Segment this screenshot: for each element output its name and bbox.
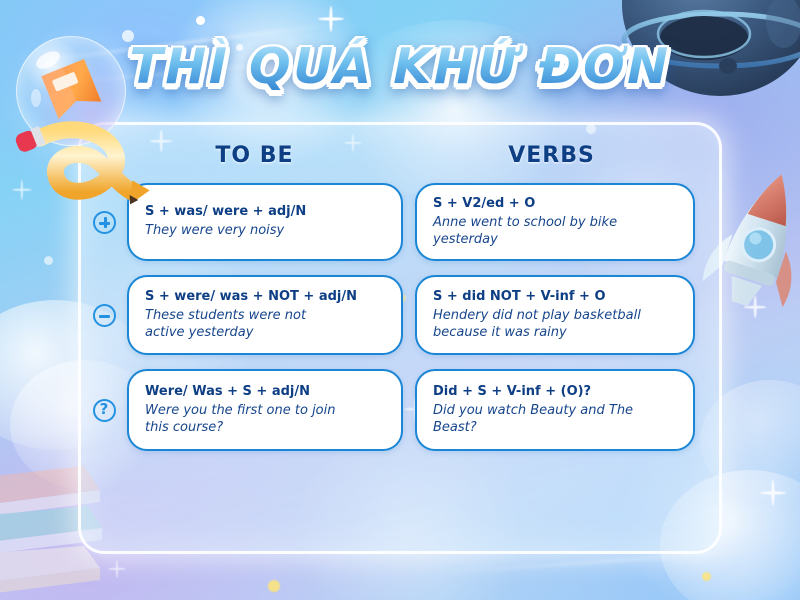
formula-text: Were/ Was + S + adj/N	[145, 384, 385, 401]
table-row: ? Were/ Was + S + adj/N Were you the fir…	[81, 369, 725, 451]
content-panel: TO BE VERBS S + was/ were + adj/N They w…	[78, 122, 722, 554]
sparkle-icon	[760, 480, 786, 506]
table-row: S + were/ was + NOT + adj/N These studen…	[81, 275, 725, 355]
sparkle-icon	[318, 6, 344, 32]
example-text: They were very noisy	[145, 222, 385, 239]
question-mark-glyph: ?	[95, 402, 114, 417]
formula-text: S + were/ was + NOT + adj/N	[145, 289, 385, 306]
card-to-be-affirmative[interactable]: S + was/ were + adj/N They were very noi…	[127, 183, 403, 261]
bokeh-dot	[196, 16, 205, 25]
example-text: Did you watch Beauty and The Beast?	[433, 402, 677, 436]
row-icon-slot	[81, 304, 127, 327]
row-icon-slot: ?	[81, 399, 127, 422]
grammar-rows: S + was/ were + adj/N They were very noi…	[81, 183, 725, 465]
card-verbs-negative[interactable]: S + did NOT + V-inf + O Hendery did not …	[415, 275, 695, 355]
bokeh-dot	[44, 256, 53, 265]
sparkle-icon	[108, 560, 126, 578]
formula-text: S + V2/ed + O	[433, 196, 677, 213]
formula-text: S + did NOT + V-inf + O	[433, 289, 677, 306]
table-row: S + was/ were + adj/N They were very noi…	[81, 183, 725, 261]
example-text: Anne went to school by bike yesterday	[433, 214, 677, 248]
example-text: Hendery did not play basketball because …	[433, 307, 677, 341]
row-icon-slot	[81, 211, 127, 234]
column-header-verbs: VERBS	[414, 143, 689, 168]
card-to-be-negative[interactable]: S + were/ was + NOT + adj/N These studen…	[127, 275, 403, 355]
example-text: Were you the first one to join this cour…	[145, 402, 385, 436]
card-verbs-affirmative[interactable]: S + V2/ed + O Anne went to school by bik…	[415, 183, 695, 261]
column-header-to-be: TO BE	[119, 143, 390, 168]
page-title: THÌ QUÁ KHỨ ĐƠN	[129, 38, 670, 95]
title-block: THÌ QUÁ KHỨ ĐƠN	[0, 38, 800, 95]
yellow-dot	[268, 580, 280, 592]
column-headers: TO BE VERBS	[119, 143, 689, 168]
minus-icon	[93, 304, 116, 327]
sparkle-icon	[744, 296, 766, 318]
plus-icon	[93, 211, 116, 234]
sparkle-icon	[12, 180, 32, 200]
formula-text: S + was/ were + adj/N	[145, 204, 385, 221]
slide-canvas: THÌ QUÁ KHỨ ĐƠN TO BE VERBS S + was/ wer…	[0, 0, 800, 600]
card-to-be-question[interactable]: Were/ Was + S + adj/N Were you the first…	[127, 369, 403, 451]
question-icon: ?	[93, 399, 116, 422]
formula-text: Did + S + V-inf + (O)?	[433, 384, 677, 401]
card-verbs-question[interactable]: Did + S + V-inf + (O)? Did you watch Bea…	[415, 369, 695, 451]
example-text: These students were not active yesterday	[145, 307, 385, 341]
yellow-dot	[702, 572, 711, 581]
